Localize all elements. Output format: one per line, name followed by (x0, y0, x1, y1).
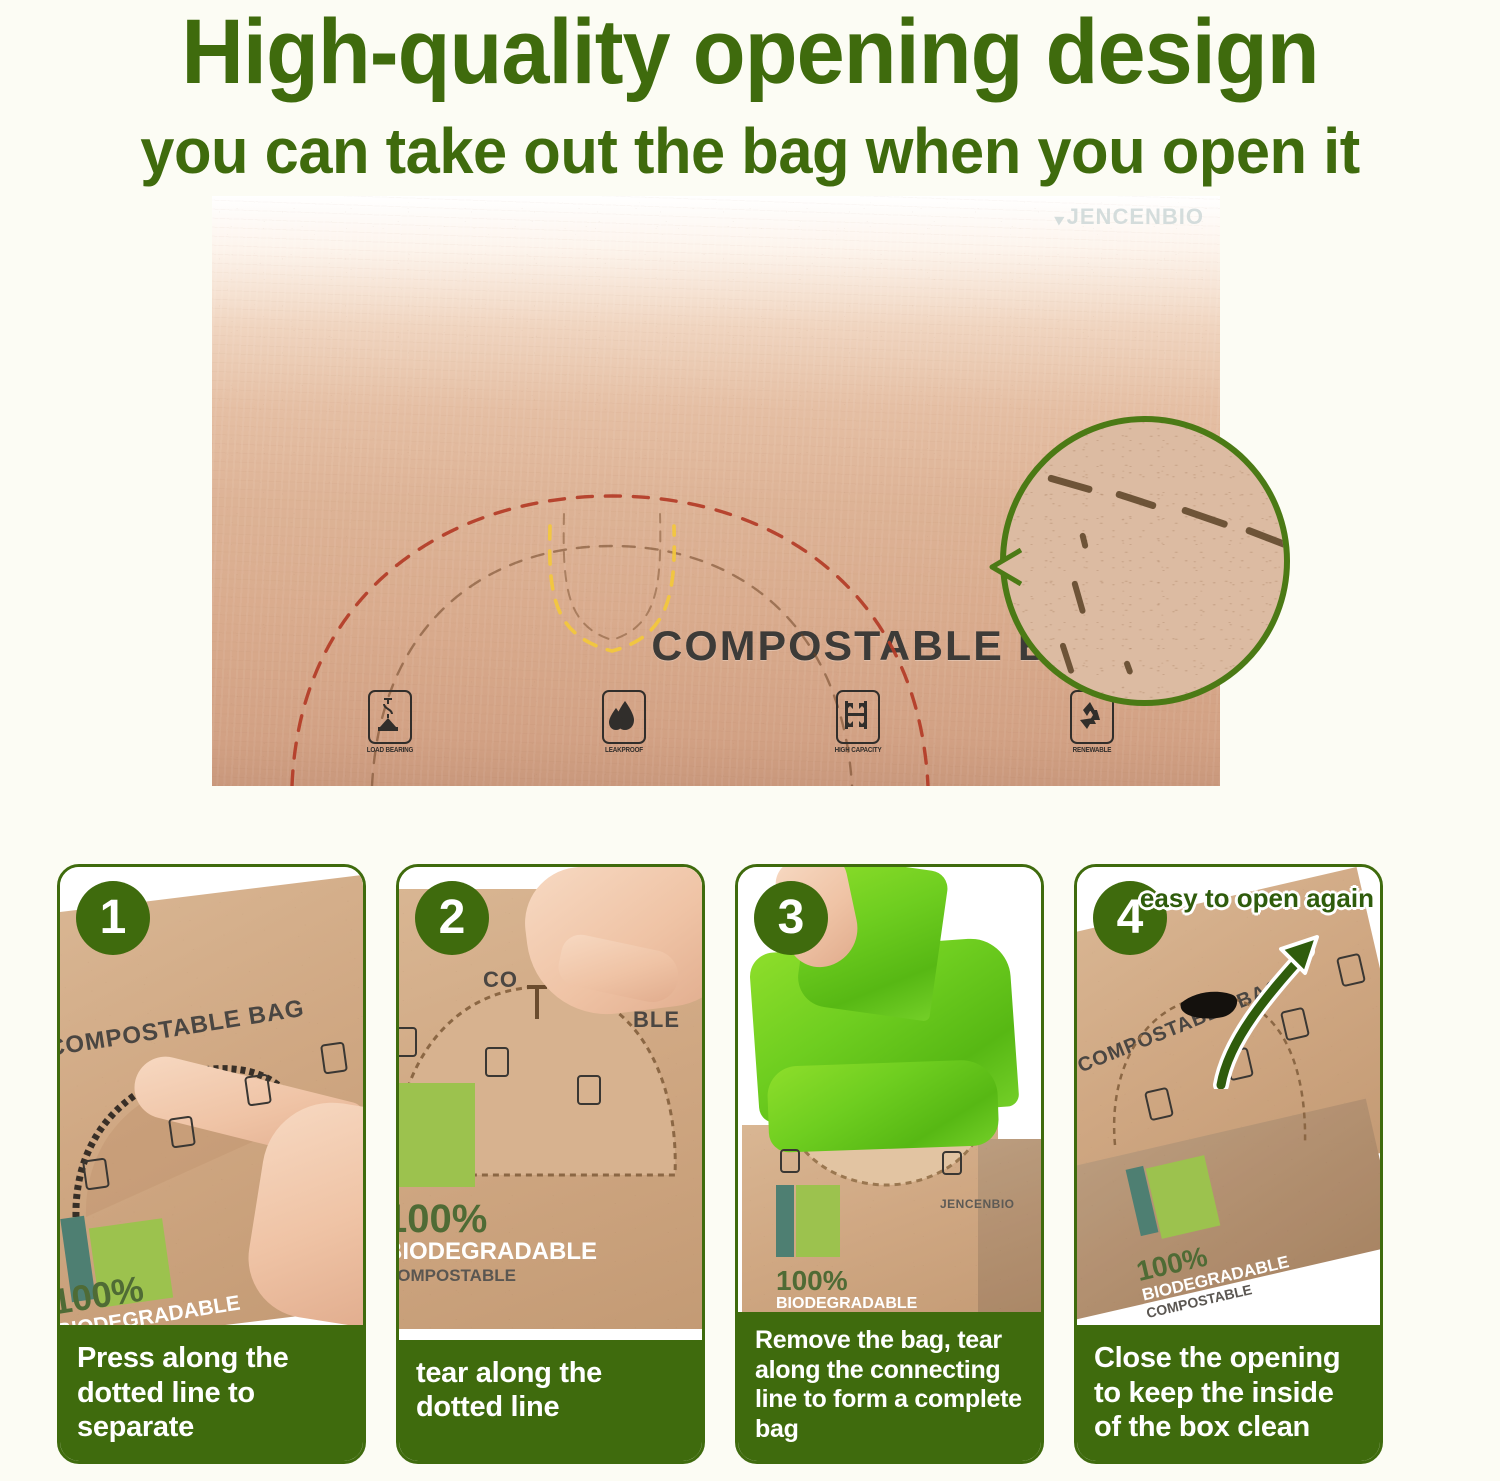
cardboard-box-side (978, 1139, 1041, 1339)
magnifier-tail (988, 548, 1022, 588)
teal-swatch (776, 1185, 794, 1257)
feature-load-bearing: LOAD BEARING (364, 690, 416, 754)
feature-label: HIGH CAPACITY (835, 747, 882, 754)
step-caption: Press along the dotted line to separate (59, 1325, 364, 1462)
header: High-quality opening design you can take… (0, 0, 1500, 185)
step-number-badge: 1 (76, 881, 150, 955)
step-caption: Close the opening to keep the inside of … (1076, 1325, 1381, 1462)
compostable-bag-fold (767, 1059, 1000, 1153)
step-panel-1[interactable]: COMPOSTABLE BAG 100% BIODEGRADABLE COMPO… (57, 864, 366, 1464)
green-swatch (796, 1185, 840, 1257)
load-bearing-icon (82, 1157, 110, 1190)
load-bearing-icon (780, 1149, 800, 1173)
feature-label: LOAD BEARING (367, 747, 414, 754)
feature-label: LEAKPROOF (601, 747, 648, 754)
step-panel-2[interactable]: CO BLE 100% BIODEGRADABLE COMPOSTABLE 2 … (396, 864, 705, 1464)
feature-label: RENEWABLE (1069, 747, 1116, 754)
step-caption: Remove the bag, tear along the connectin… (737, 1312, 1042, 1462)
recycle-icon (942, 1151, 962, 1175)
brand-logo: JENCENBIO (940, 1197, 1015, 1211)
box-print-stats: 100% BIODEGRADABLE COMPOSTABLE (399, 1197, 597, 1286)
easy-open-annotation: easy to open again (1140, 883, 1374, 914)
page-title: High-quality opening design (45, 6, 1455, 100)
step-number-badge: 2 (415, 881, 489, 955)
water-drop-icon (602, 690, 646, 744)
green-swatch (399, 1083, 475, 1187)
feature-icon-row: LOAD BEARING LEAKPROOF (212, 690, 1220, 770)
feature-high-capacity: HIGH CAPACITY (832, 690, 884, 754)
recycle-icon (320, 1041, 348, 1074)
load-bearing-icon (399, 1027, 417, 1057)
load-bearing-icon (368, 690, 412, 744)
expand-arrows-icon (244, 1073, 272, 1106)
expand-arrows-icon (577, 1075, 601, 1105)
step-panel-4[interactable]: COMPOSTABLE BAG 100% BIODEGRADABLE COMPO… (1074, 864, 1383, 1464)
step-panels: COMPOSTABLE BAG 100% BIODEGRADABLE COMPO… (57, 864, 1443, 1464)
water-drop-icon (485, 1047, 509, 1077)
water-drop-icon (168, 1115, 196, 1148)
magnifier-callout (1000, 416, 1290, 706)
expand-arrows-icon (836, 690, 880, 744)
step-panel-3[interactable]: JENCENBIO 100% BIODEGRADABLE COMPOSTABLE… (735, 864, 1044, 1464)
feature-leakproof: LEAKPROOF (598, 690, 650, 754)
step-caption: tear along the dotted line (398, 1340, 703, 1462)
page-subtitle: you can take out the bag when you open i… (30, 118, 1470, 185)
open-again-arrow (1199, 889, 1347, 1089)
step-number-badge: 3 (754, 881, 828, 955)
magnified-kraft-texture (1000, 416, 1290, 706)
